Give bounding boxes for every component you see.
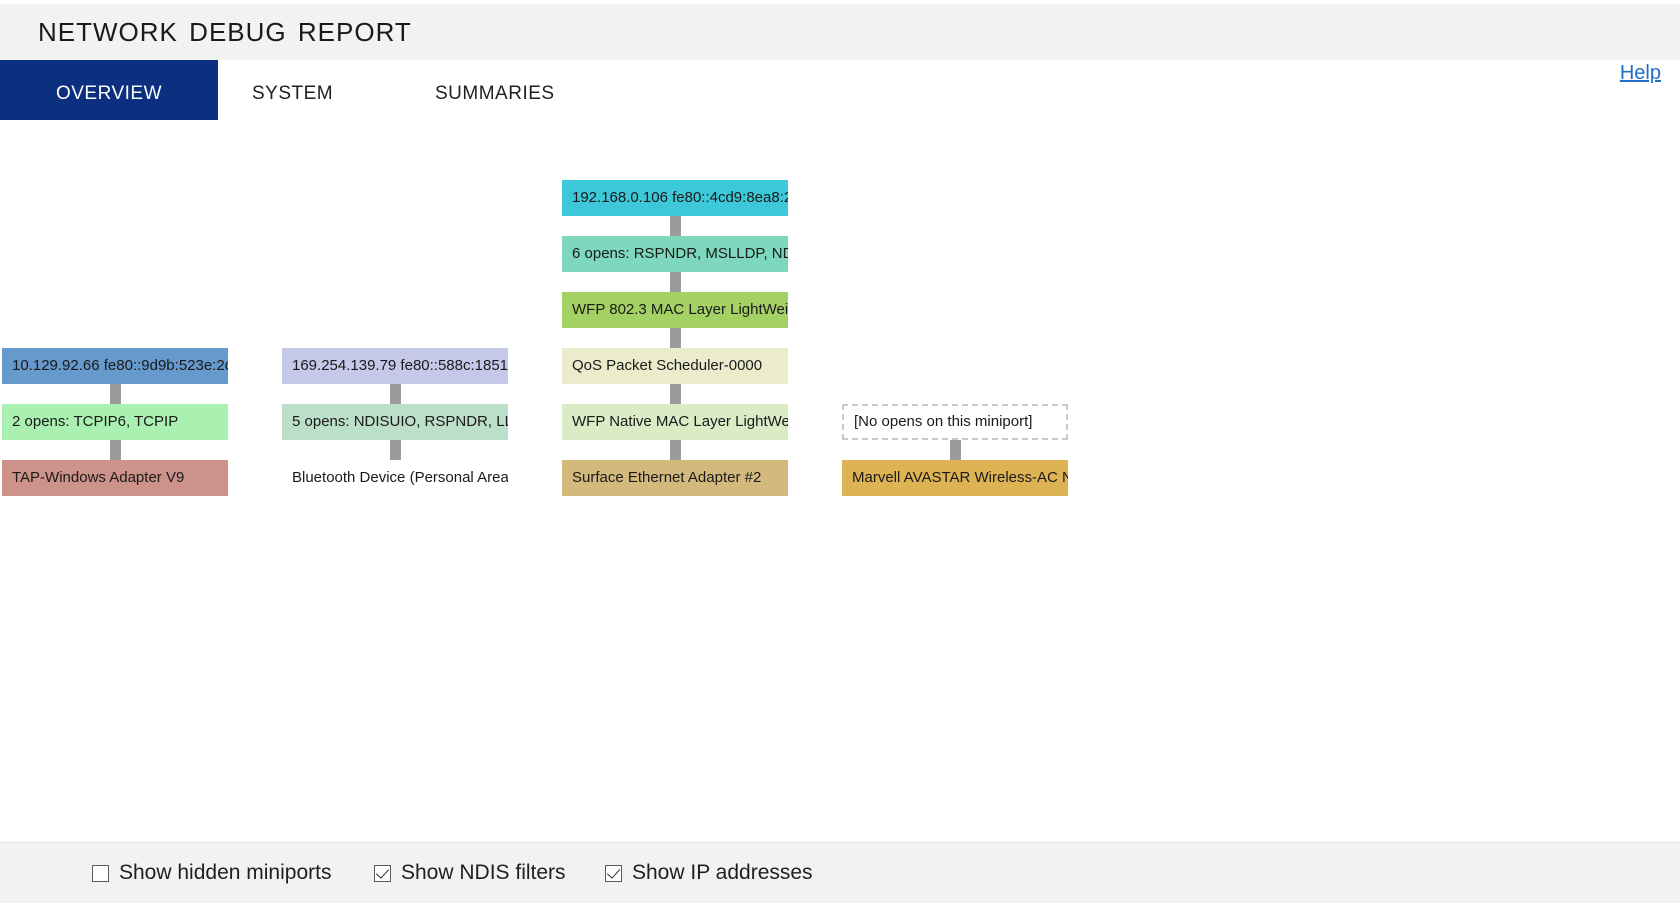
ip-node[interactable]: 169.254.139.79 fe80::588c:1851:f711: — [282, 348, 508, 384]
network-stack-diagram: 10.129.92.66 fe80::9d9b:523e:2d70:22 ope… — [0, 120, 1680, 842]
ip-node[interactable]: 192.168.0.106 fe80::4cd9:8ea8:2bc0:e — [562, 180, 788, 216]
help-link[interactable]: Help — [1620, 62, 1661, 85]
checkbox-box-icon[interactable] — [374, 865, 391, 882]
ip-node[interactable]: 10.129.92.66 fe80::9d9b:523e:2d70:2 — [2, 348, 228, 384]
tab-overview[interactable]: Overview — [0, 60, 218, 120]
stack-connector — [110, 384, 121, 404]
footer-options-bar: Show hidden miniports Show NDIS filters … — [0, 842, 1680, 903]
tab-system[interactable]: System — [252, 60, 333, 120]
filter-node-1[interactable]: WFP 802.3 MAC Layer LightWeight Fi — [562, 292, 788, 328]
stack-connector — [110, 440, 121, 460]
stack-connector — [670, 440, 681, 460]
stack-connector — [390, 440, 401, 460]
miniport-node[interactable]: Surface Ethernet Adapter #2 — [562, 460, 788, 496]
miniport-node[interactable]: Marvell AVASTAR Wireless-AC Netw — [842, 460, 1068, 496]
stack-connector — [390, 384, 401, 404]
checkbox-label: Show IP addresses — [632, 861, 813, 885]
stack-connector — [670, 384, 681, 404]
page-title: Network Debug Report — [38, 8, 412, 50]
checkbox-show-hidden-miniports[interactable]: Show hidden miniports — [92, 859, 331, 887]
checkbox-show-ndis-filters[interactable]: Show NDIS filters — [374, 859, 566, 887]
stack-connector — [950, 440, 961, 460]
tab-summaries[interactable]: Summaries — [435, 60, 555, 120]
miniport-node[interactable]: Bluetooth Device (Personal Area Net — [282, 460, 508, 496]
no-opens-node[interactable]: [No opens on this miniport] — [842, 404, 1068, 440]
opens-node[interactable]: 5 opens: NDISUIO, RSPNDR, LLTDIO, — [282, 404, 508, 440]
stack-connector — [670, 328, 681, 348]
tab-bar: Overview System Summaries — [0, 60, 1680, 120]
filter-node-2[interactable]: QoS Packet Scheduler-0000 — [562, 348, 788, 384]
opens-node[interactable]: 6 opens: RSPNDR, MSLLDP, NDISUIO — [562, 236, 788, 272]
window-top-strip — [0, 0, 1680, 4]
miniport-node[interactable]: TAP-Windows Adapter V9 — [2, 460, 228, 496]
checkbox-label: Show hidden miniports — [119, 861, 331, 885]
checkbox-box-icon[interactable] — [605, 865, 622, 882]
title-bar: Network Debug Report — [0, 0, 1680, 61]
opens-node[interactable]: 2 opens: TCPIP6, TCPIP — [2, 404, 228, 440]
filter-node-3[interactable]: WFP Native MAC Layer LightWeight — [562, 404, 788, 440]
stack-connector — [670, 216, 681, 236]
checkbox-box-icon[interactable] — [92, 865, 109, 882]
checkbox-show-ip-addresses[interactable]: Show IP addresses — [605, 859, 813, 887]
stack-connector — [670, 272, 681, 292]
checkbox-label: Show NDIS filters — [401, 861, 566, 885]
